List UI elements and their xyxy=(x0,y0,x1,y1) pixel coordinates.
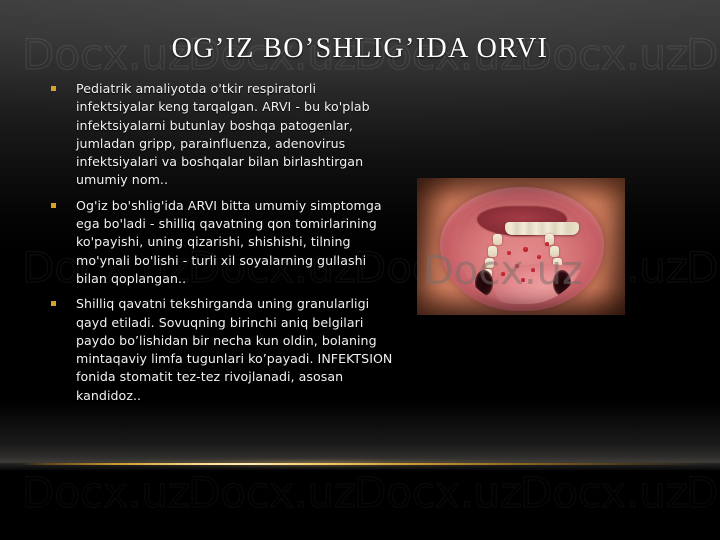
slide-body-content: Pediatrik amaliyotda o'tkir respiratorli… xyxy=(46,80,398,412)
divider-glow xyxy=(120,459,550,468)
watermark-text: Docx.uz xyxy=(188,468,356,517)
watermark-text: Docx.uz xyxy=(520,468,688,517)
list-item-text: Og'iz bo'shlig'ida ARVI bitta umumiy sim… xyxy=(76,197,398,288)
oral-cavity-photo: Docx.uz xyxy=(417,178,625,315)
photo-vignette xyxy=(417,178,625,315)
gold-divider xyxy=(0,461,720,466)
watermark-text: Docx.uz xyxy=(354,468,522,517)
list-item: Og'iz bo'shlig'ida ARVI bitta umumiy sim… xyxy=(46,197,398,288)
square-bullet-icon xyxy=(51,86,56,91)
presentation-slide: Docx.uz Docx.uz Docx.uz Docx.uz Docx.uz … xyxy=(0,0,720,540)
divider-sheen xyxy=(0,443,720,463)
slide-title: OG’IZ BO’SHLIG’IDA ORVI xyxy=(0,32,720,66)
list-item-text: Shilliq qavatni tekshirganda uning granu… xyxy=(76,295,398,405)
watermark-text: Docx.uz xyxy=(22,468,190,517)
watermark-text: Docx.uz xyxy=(686,243,720,292)
list-item: Pediatrik amaliyotda o'tkir respiratorli… xyxy=(46,80,398,190)
square-bullet-icon xyxy=(51,301,56,306)
divider-line xyxy=(20,463,710,465)
watermark-text: Docx.uz xyxy=(686,468,720,517)
square-bullet-icon xyxy=(51,203,56,208)
list-item: Shilliq qavatni tekshirganda uning granu… xyxy=(46,295,398,405)
photo-watermark-text: Docx.uz xyxy=(423,248,583,294)
list-item-text: Pediatrik amaliyotda o'tkir respiratorli… xyxy=(76,80,398,190)
